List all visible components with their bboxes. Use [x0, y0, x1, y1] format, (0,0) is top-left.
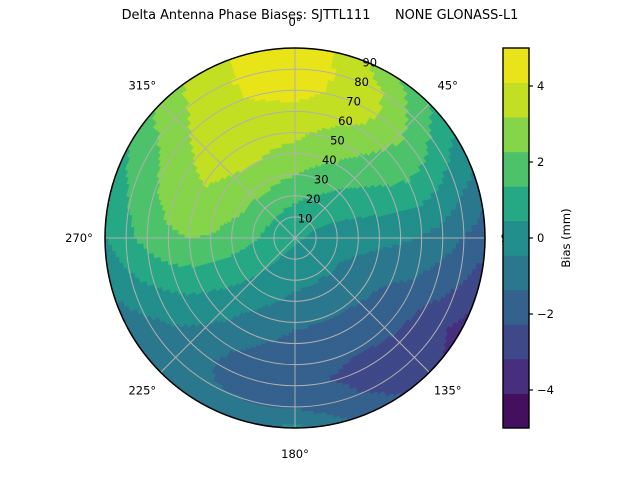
figure-canvas: Delta Antenna Phase Biases: SJTTL111 NON… — [0, 0, 640, 480]
